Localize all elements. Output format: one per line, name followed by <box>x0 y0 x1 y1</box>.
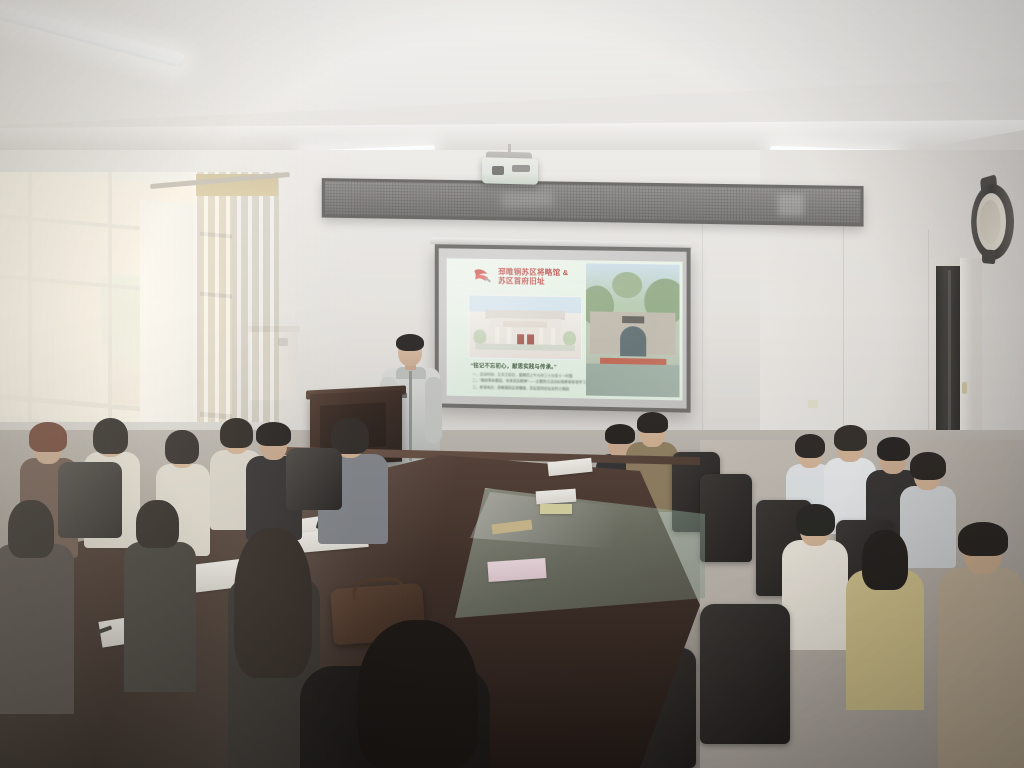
screen-glare <box>439 248 687 408</box>
handout-paper-pink[interactable] <box>487 558 546 582</box>
audience-hair <box>165 430 199 464</box>
chair[interactable] <box>700 604 790 744</box>
audience-torso <box>900 486 956 568</box>
radiator-knob <box>278 338 288 346</box>
audience-hair <box>862 530 908 590</box>
audience-hair <box>637 412 668 433</box>
clock-mount-bottom <box>982 249 995 264</box>
audience-hair <box>910 452 946 480</box>
audience-hair <box>220 418 253 448</box>
audience-torso <box>782 540 848 650</box>
led-banner-glare <box>501 191 553 209</box>
clock-dial <box>980 200 1001 245</box>
window-curtain-folds <box>193 172 279 422</box>
chair[interactable] <box>58 462 122 538</box>
wall-socket <box>808 400 818 408</box>
audience-hair <box>136 500 179 548</box>
audience-torso <box>938 568 1024 768</box>
audience-hair <box>358 620 478 768</box>
audience-torso <box>846 570 924 710</box>
wall-clock <box>971 182 1017 264</box>
audience-hair <box>8 500 54 558</box>
lecture-hall-photo: 邳睢铜苏区将略馆 & 苏区首府旧址 <box>0 0 1024 768</box>
audience-torso <box>0 544 74 714</box>
projector-controls[interactable] <box>512 165 530 172</box>
audience-hair <box>234 528 312 678</box>
audience-hair <box>958 522 1008 556</box>
led-banner-glare <box>778 194 805 217</box>
door-handle[interactable] <box>962 382 967 394</box>
projector-lens-icon <box>492 166 504 175</box>
handout-paper[interactable] <box>536 489 577 505</box>
audience-hair <box>877 437 910 461</box>
audience-hair <box>256 422 291 446</box>
chair[interactable] <box>700 474 752 562</box>
wall-seam <box>702 210 703 460</box>
audience-hair <box>93 418 128 454</box>
audience-hair <box>834 425 867 451</box>
audience-hair <box>605 424 635 444</box>
notebook[interactable] <box>540 504 572 514</box>
audience-hair <box>795 434 825 458</box>
presenter-hair <box>396 334 424 351</box>
presenter-jacket-zip <box>409 371 412 461</box>
presenter-arm-right <box>425 377 442 443</box>
chair[interactable] <box>286 448 342 510</box>
projection-screen[interactable]: 邳睢铜苏区将略馆 & 苏区首府旧址 <box>435 244 691 412</box>
audience-torso <box>124 542 196 692</box>
handbag-strap <box>351 576 406 601</box>
audience-hair <box>29 422 67 452</box>
audience-hair <box>796 504 835 536</box>
